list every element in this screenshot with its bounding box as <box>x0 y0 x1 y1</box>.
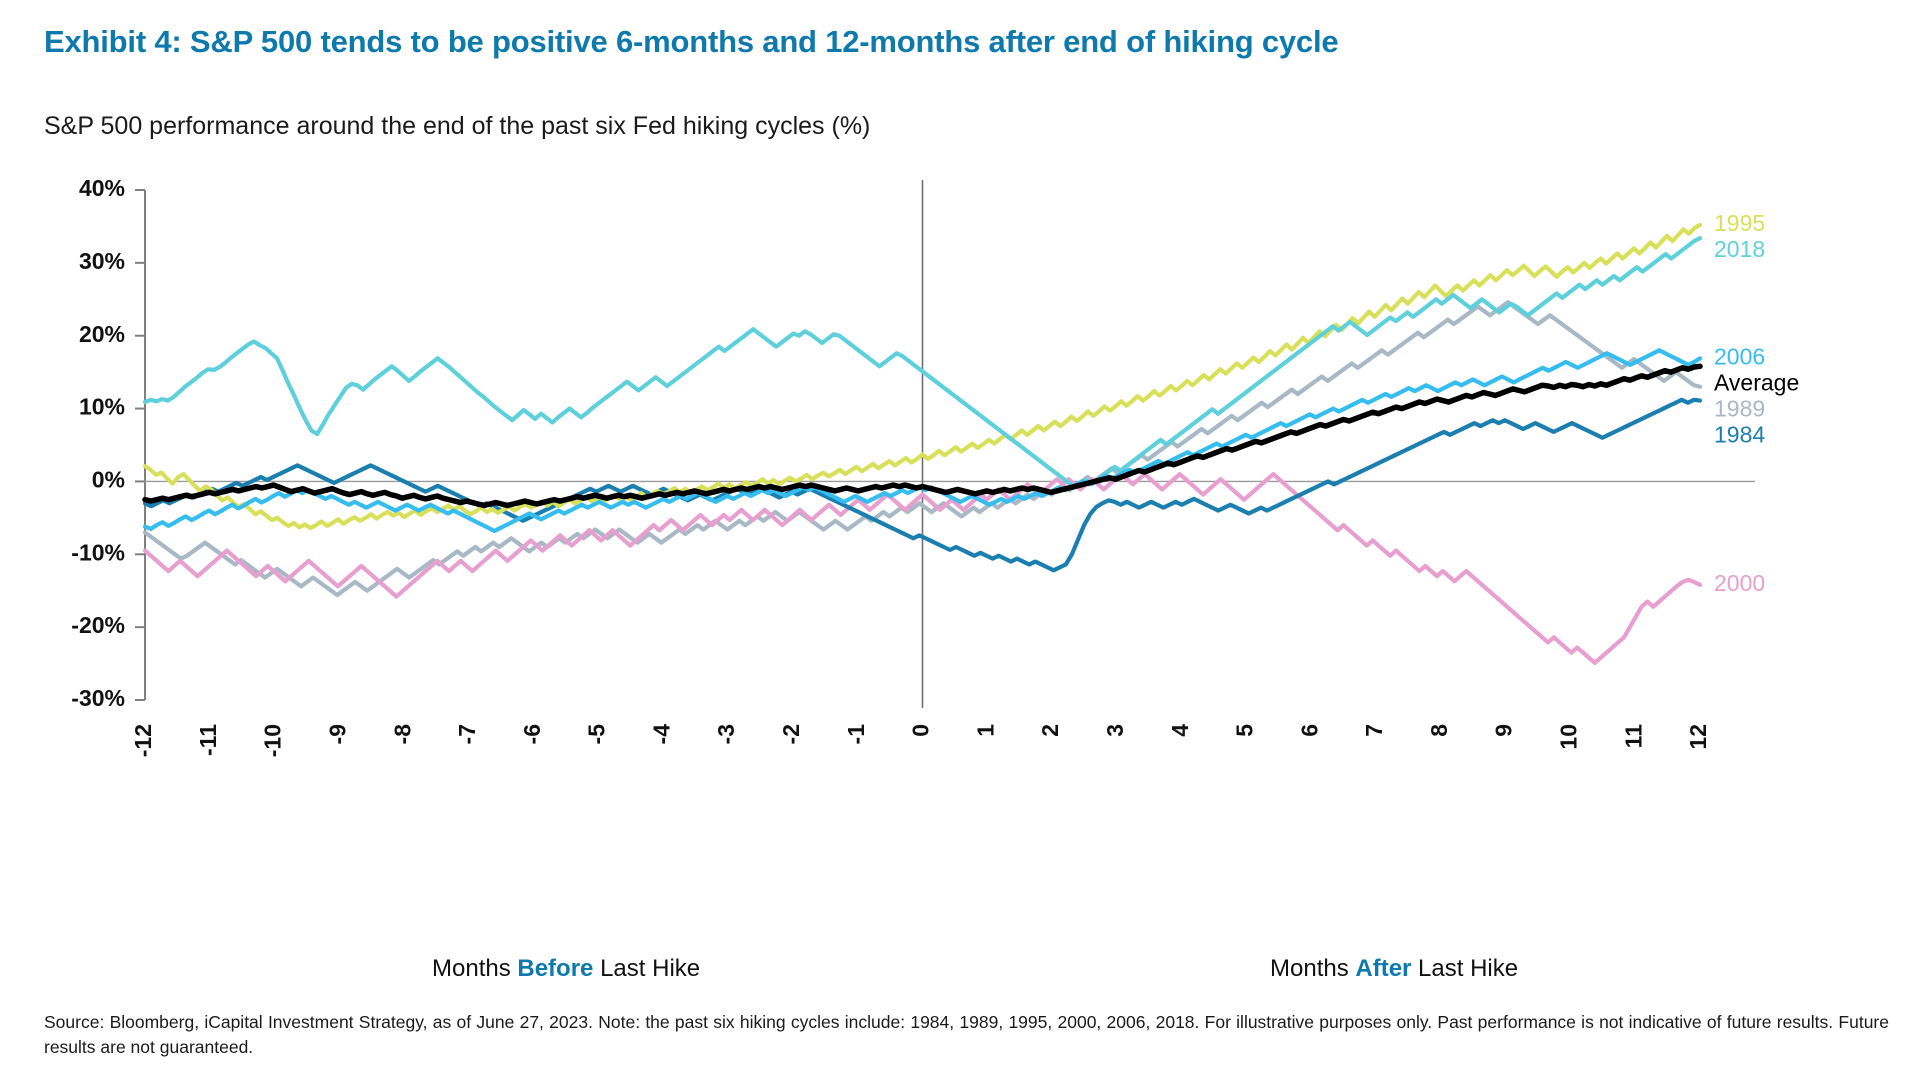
x-axis-tick-label: -1 <box>843 724 869 745</box>
x-axis-tick-label: 9 <box>1491 724 1517 737</box>
x-axis-tick-label: 3 <box>1102 724 1128 737</box>
x-axis-tick-label: -6 <box>519 724 545 744</box>
x-axis-tick-label: 8 <box>1426 724 1452 737</box>
series-label-average: Average <box>1714 369 1799 395</box>
y-axis: 40%30%20%10%0%-10%-20%-30% <box>71 180 145 711</box>
chart-page: Exhibit 4: S&P 500 tends to be positive … <box>0 0 1920 1080</box>
caption-before-highlight: Before <box>517 955 593 982</box>
y-axis-tick-label: 20% <box>79 321 125 347</box>
series-label-1984: 1984 <box>1714 421 1765 447</box>
x-axis-tick-label: 5 <box>1232 724 1258 737</box>
x-axis-tick-label: 0 <box>908 724 934 737</box>
caption-after-highlight: After <box>1355 955 1411 982</box>
page-title: Exhibit 4: S&P 500 tends to be positive … <box>44 24 1338 60</box>
chart-subtitle: S&P 500 performance around the end of th… <box>44 112 870 141</box>
x-axis-tick-label: 10 <box>1555 724 1581 750</box>
x-axis-tick-label: -10 <box>260 724 286 757</box>
x-axis-tick-label: -5 <box>584 724 610 745</box>
x-axis-tick-label: -4 <box>648 724 674 745</box>
series-labels: 199520182006Average198919842000 <box>1714 210 1799 596</box>
x-axis-tick-label: 1 <box>972 724 998 737</box>
x-axis-tick-label: 12 <box>1685 724 1711 750</box>
x-axis-tick-label: 2 <box>1037 724 1063 737</box>
x-axis-tick-label: 7 <box>1361 724 1387 737</box>
caption-before-post: Last Hike <box>593 955 700 982</box>
x-axis-tick-label: 4 <box>1167 724 1193 737</box>
axis-captions: Months Before Last Hike Months After Las… <box>0 955 1920 995</box>
caption-before-pre: Months <box>432 955 517 982</box>
x-axis-tick-label: -2 <box>778 724 804 744</box>
chart-plot-area: 40%30%20%10%0%-10%-20%-30% -12-11-10-9-8… <box>0 180 1920 980</box>
line-chart-svg: 40%30%20%10%0%-10%-20%-30% -12-11-10-9-8… <box>0 180 1920 980</box>
series-label-2006: 2006 <box>1714 343 1765 369</box>
axis-caption-after: Months After Last Hike <box>1270 955 1518 983</box>
y-axis-tick-label: 10% <box>79 394 125 420</box>
source-note: Source: Bloomberg, iCapital Investment S… <box>44 1010 1889 1061</box>
series-label-1995: 1995 <box>1714 210 1765 236</box>
caption-after-post: Last Hike <box>1411 955 1518 982</box>
x-axis-tick-label: -9 <box>324 724 350 744</box>
series-label-2018: 2018 <box>1714 236 1765 262</box>
x-axis-tick-label: -8 <box>389 724 415 745</box>
y-axis-tick-label: 0% <box>92 467 125 493</box>
x-axis: -12-11-10-9-8-7-6-5-4-3-2-10123456789101… <box>130 724 1711 757</box>
series-label-2000: 2000 <box>1714 570 1765 596</box>
series-label-1989: 1989 <box>1714 395 1765 421</box>
axis-caption-before: Months Before Last Hike <box>432 955 700 983</box>
y-axis-tick-label: 40% <box>79 180 125 201</box>
x-axis-tick-label: 11 <box>1620 724 1646 749</box>
y-axis-tick-label: -30% <box>71 685 125 711</box>
y-axis-tick-label: -10% <box>71 539 125 565</box>
y-axis-tick-label: -20% <box>71 612 125 638</box>
x-axis-tick-label: -3 <box>713 724 739 744</box>
caption-after-pre: Months <box>1270 955 1355 982</box>
x-axis-tick-label: -7 <box>454 724 480 744</box>
y-axis-tick-label: 30% <box>79 248 125 274</box>
reference-lines <box>145 180 1755 708</box>
x-axis-tick-label: -12 <box>130 724 156 757</box>
x-axis-tick-label: 6 <box>1296 724 1322 737</box>
x-axis-tick-label: -11 <box>195 724 221 756</box>
